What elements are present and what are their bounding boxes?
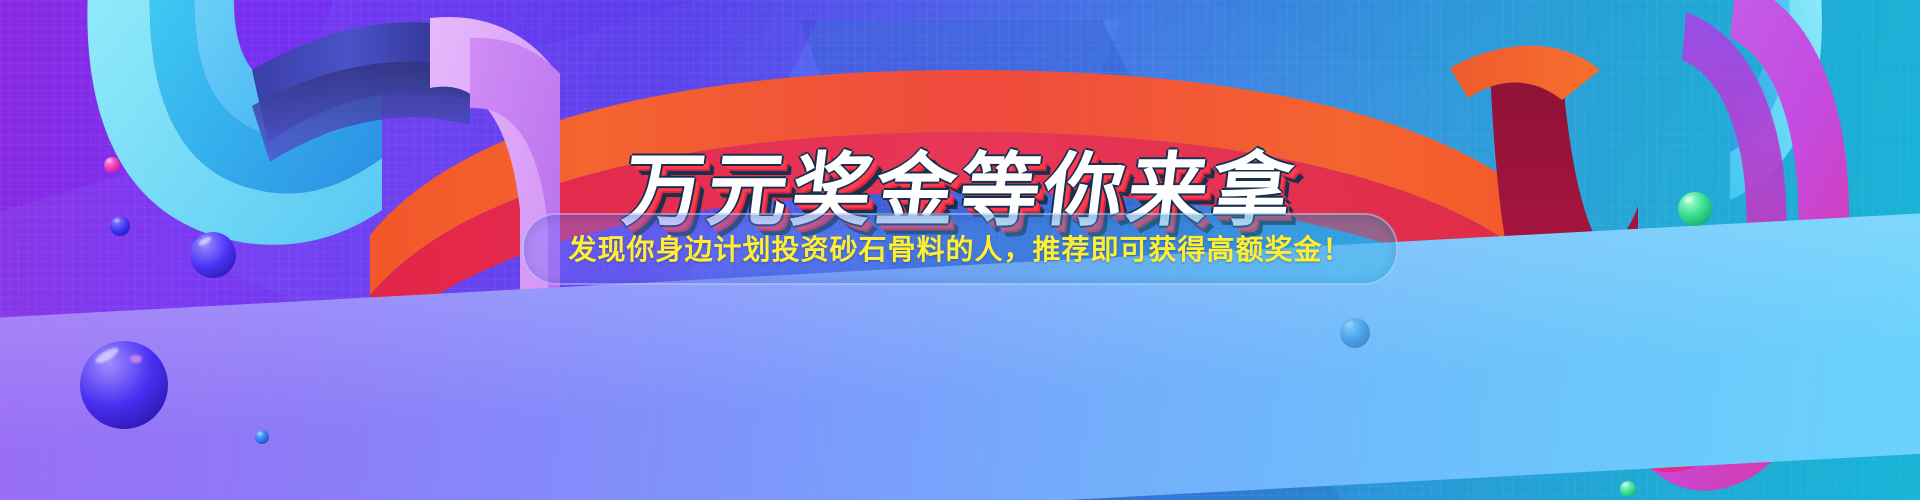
subtitle-text: 发现你身边计划投资砂石骨料的人，推荐即可获得高额奖金！ <box>568 233 1351 266</box>
sphere-blue-right <box>1340 318 1370 348</box>
sphere-green-small <box>1620 481 1636 497</box>
sphere-blue-large <box>80 341 168 429</box>
promo-banner: 万元奖金等你来拿 发现你身边计划投资砂石骨料的人，推荐即可获得高额奖金！ <box>0 0 1920 500</box>
sphere-blue-dot <box>255 430 269 444</box>
subtitle-container: 发现你身边计划投资砂石骨料的人，推荐即可获得高额奖金！ <box>0 213 1920 285</box>
subtitle-pill: 发现你身边计划投资砂石骨料的人，推荐即可获得高额奖金！ <box>522 213 1397 285</box>
